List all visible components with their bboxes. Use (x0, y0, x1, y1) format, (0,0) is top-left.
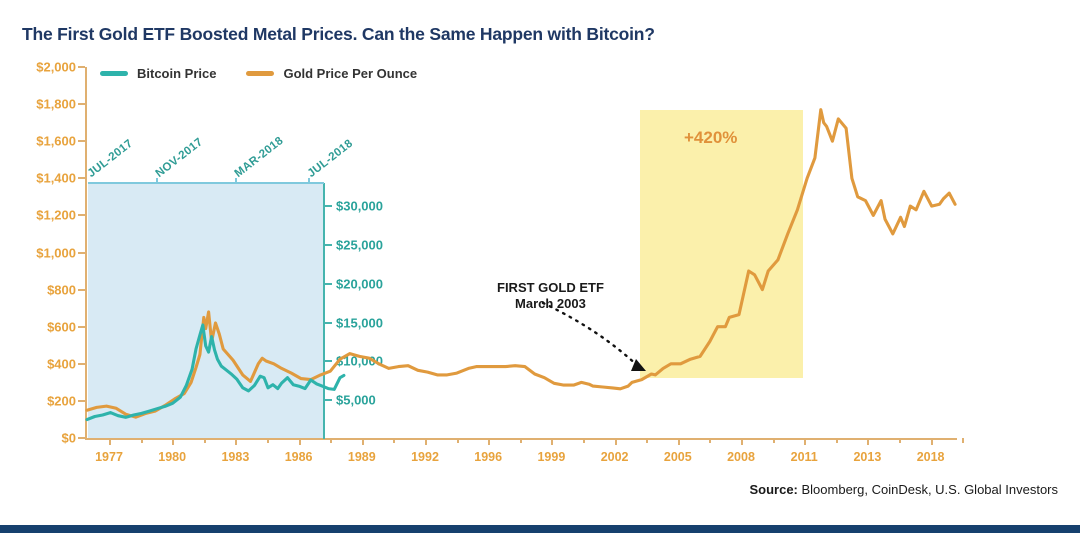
x-axis-tick (425, 438, 427, 445)
x-axis-label: 2018 (917, 450, 945, 464)
y-axis-left-tick (78, 214, 85, 216)
x-axis-minor-tick (204, 438, 206, 443)
x-axis-minor-tick (457, 438, 459, 443)
x-axis-minor-tick (709, 438, 711, 443)
x-axis-label: 1999 (537, 450, 565, 464)
y-axis-left-tick (78, 177, 85, 179)
x-axis-label: 1980 (158, 450, 186, 464)
x-axis-tick (931, 438, 933, 445)
x-axis-tick (551, 438, 553, 445)
x-axis-minor-tick (646, 438, 648, 443)
secondary-x-axis-tick (308, 178, 310, 183)
y-axis-left-tick (78, 103, 85, 105)
y-axis-left-tick (78, 400, 85, 402)
x-axis-minor-tick (330, 438, 332, 443)
y-axis-left-tick (78, 140, 85, 142)
source-text: Bloomberg, CoinDesk, U.S. Global Investo… (798, 482, 1058, 497)
x-axis-minor-tick (962, 438, 964, 443)
x-axis-minor-tick (836, 438, 838, 443)
x-axis-label: 2011 (791, 450, 818, 464)
x-axis-label: 2008 (727, 450, 755, 464)
series-gold-line (87, 110, 955, 418)
x-axis-minor-tick (899, 438, 901, 443)
x-axis-tick (867, 438, 869, 445)
source-note: Source: Bloomberg, CoinDesk, U.S. Global… (749, 482, 1058, 497)
x-axis-label: 2005 (664, 450, 692, 464)
x-axis-label: 1992 (411, 450, 439, 464)
x-axis-tick (804, 438, 806, 445)
callout-arrow (543, 303, 646, 371)
x-axis-minor-tick (583, 438, 585, 443)
x-axis-tick (362, 438, 364, 445)
source-label: Source: (749, 482, 797, 497)
x-axis-minor-tick (393, 438, 395, 443)
x-axis-tick (172, 438, 174, 445)
x-axis-label: 1989 (348, 450, 376, 464)
secondary-x-axis-tick (156, 178, 158, 183)
x-axis-label: 2002 (601, 450, 629, 464)
x-axis-label: 2013 (853, 450, 881, 464)
x-axis-tick (109, 438, 111, 445)
x-axis-tick (615, 438, 617, 445)
chart-root: The First Gold ETF Boosted Metal Prices.… (0, 0, 1080, 533)
x-axis-tick (299, 438, 301, 445)
x-axis-tick (488, 438, 490, 445)
x-axis-label: 1983 (221, 450, 249, 464)
y-axis-left-tick (78, 66, 85, 68)
secondary-x-axis-tick (235, 178, 237, 183)
x-axis-tick (678, 438, 680, 445)
x-axis-minor-tick (520, 438, 522, 443)
footer-bar (0, 525, 1080, 533)
y-axis-left-tick (78, 437, 85, 439)
series-bitcoin-line (87, 325, 344, 420)
y-axis-left-tick (78, 326, 85, 328)
x-axis-label: 1986 (285, 450, 313, 464)
y-axis-left-tick (78, 252, 85, 254)
x-axis-minor-tick (773, 438, 775, 443)
x-axis-minor-tick (141, 438, 143, 443)
y-axis-left-tick (78, 289, 85, 291)
x-axis-minor-tick (267, 438, 269, 443)
y-axis-left-tick (78, 363, 85, 365)
x-axis-label: 1977 (95, 450, 123, 464)
x-axis-tick (235, 438, 237, 445)
x-axis-tick (741, 438, 743, 445)
x-axis-label: 1996 (474, 450, 502, 464)
